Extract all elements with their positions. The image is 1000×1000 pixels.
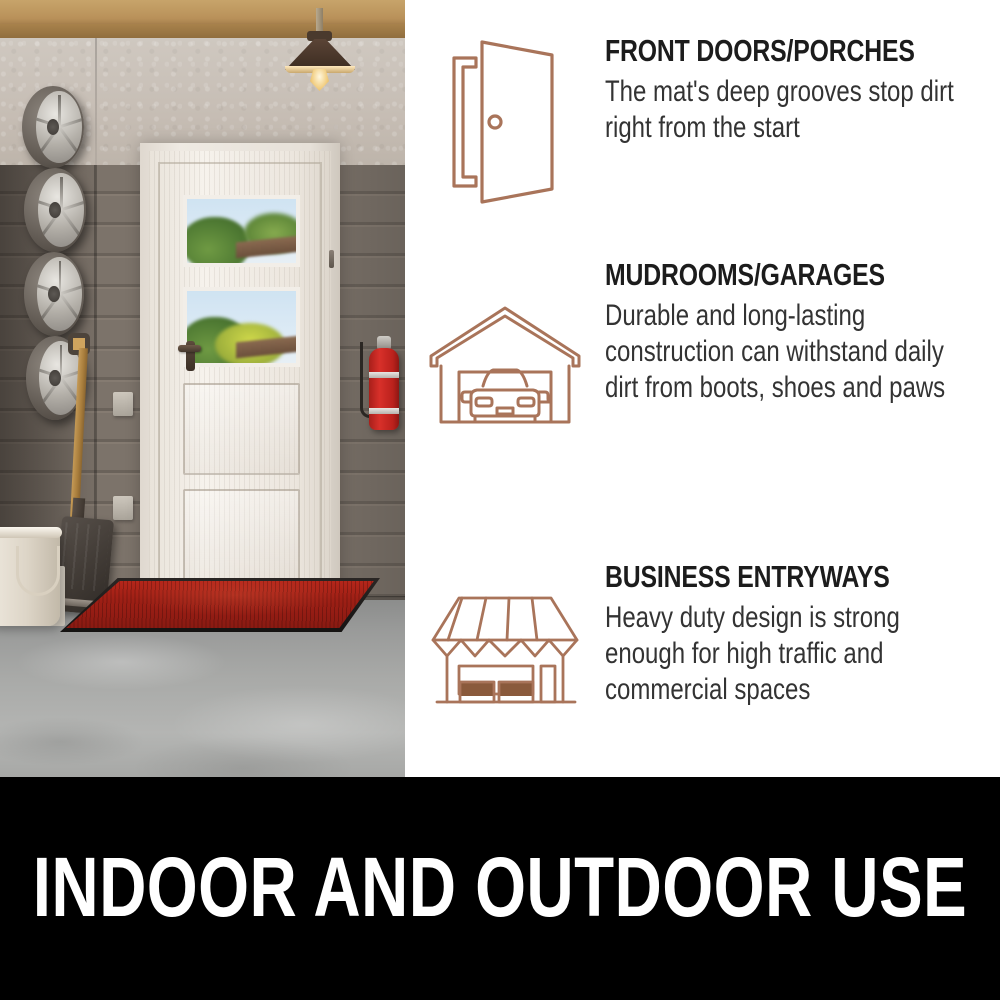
wheel-rim-1	[22, 86, 84, 168]
feature-1-body: The mat's deep grooves stop dirt right f…	[605, 74, 992, 146]
feature-1-text: FRONT DOORS/PORCHES The mat's deep groov…	[605, 34, 1000, 146]
feature-1-icon-wrap	[405, 34, 605, 208]
wheel-rim-3	[24, 252, 84, 336]
feature-3-headline: BUSINESS ENTRYWAYS	[605, 560, 907, 594]
fire-extinguisher	[369, 348, 399, 430]
bucket-handle	[16, 546, 60, 596]
wheel-rim-2	[24, 168, 86, 252]
features-panel: FRONT DOORS/PORCHES The mat's deep groov…	[405, 0, 1000, 777]
infographic-root: FRONT DOORS/PORCHES The mat's deep groov…	[0, 0, 1000, 1000]
red-door-mat	[60, 578, 380, 632]
feature-business-entryways: BUSINESS ENTRYWAYS Heavy duty design is …	[405, 560, 1000, 712]
door-handle	[178, 345, 201, 352]
fire-extinguisher-band-top	[369, 372, 399, 378]
fire-extinguisher-band-bottom	[369, 408, 399, 414]
garage-entry-photo	[0, 0, 405, 777]
door-glass-pane-top	[183, 195, 300, 267]
bottom-banner: INDOOR AND OUTDOOR USE	[0, 777, 1000, 1000]
wall-corner-seam	[95, 38, 97, 168]
feature-3-icon-wrap	[405, 560, 605, 712]
feature-mudrooms-garages: MUDROOMS/GARAGES Durable and long-lastin…	[405, 258, 1000, 432]
feature-2-icon-wrap	[405, 258, 605, 432]
door-panel-middle	[183, 383, 300, 475]
door-panel-lower	[183, 489, 300, 581]
door-hinge	[329, 250, 334, 268]
bucket-rim	[0, 527, 62, 538]
feature-3-body: Heavy duty design is strong enough for h…	[605, 600, 982, 708]
door-glass-pane-bottom	[183, 287, 300, 367]
feature-front-doors-porches: FRONT DOORS/PORCHES The mat's deep groov…	[405, 34, 1000, 208]
feature-3-text: BUSINESS ENTRYWAYS Heavy duty design is …	[605, 560, 1000, 708]
feature-2-text: MUDROOMS/GARAGES Durable and long-lastin…	[605, 258, 1000, 406]
feature-1-headline: FRONT DOORS/PORCHES	[605, 34, 915, 68]
wall-plate-1	[113, 392, 133, 416]
storefront-icon	[429, 590, 581, 712]
wall-plate-2	[113, 496, 133, 520]
banner-headline: INDOOR AND OUTDOOR USE	[33, 845, 967, 929]
feature-2-headline: MUDROOMS/GARAGES	[605, 258, 907, 292]
garage-with-car-icon	[427, 300, 583, 432]
open-door-icon	[446, 36, 564, 208]
feature-2-body: Durable and long-lasting construction ca…	[605, 298, 982, 406]
